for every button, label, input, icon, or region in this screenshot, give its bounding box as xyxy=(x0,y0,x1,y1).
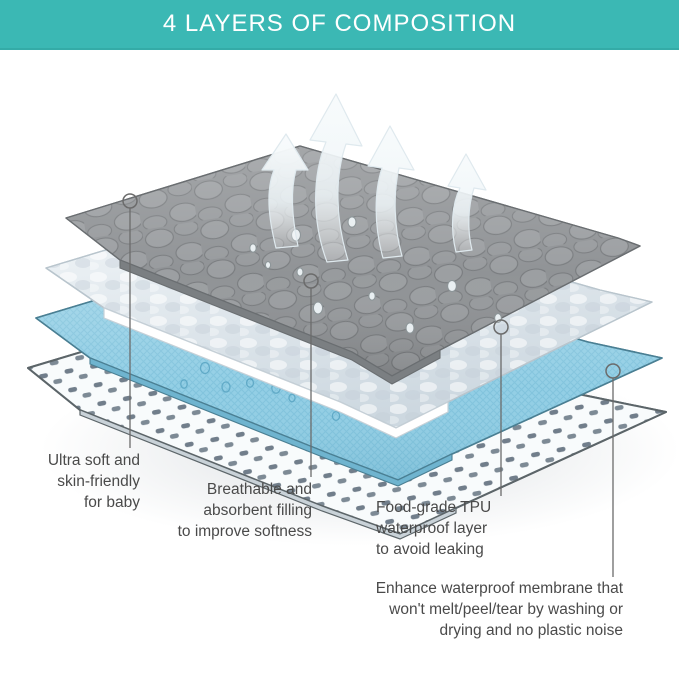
callout-label-tpu-waterproof: Food-grade TPU waterproof layer to avoid… xyxy=(376,497,526,560)
header-bar: 4 LAYERS OF COMPOSITION xyxy=(0,0,679,50)
callout-label-ultra-soft: Ultra soft and skin-friendly for baby xyxy=(14,450,140,513)
page-title: 4 LAYERS OF COMPOSITION xyxy=(163,10,516,38)
infographic-page: 4 LAYERS OF COMPOSITION xyxy=(0,0,679,679)
callout-label-breathable-filling: Breathable and absorbent filling to impr… xyxy=(160,479,312,542)
callout-label-waterproof-membrane: Enhance waterproof membrane that won't m… xyxy=(318,578,623,641)
